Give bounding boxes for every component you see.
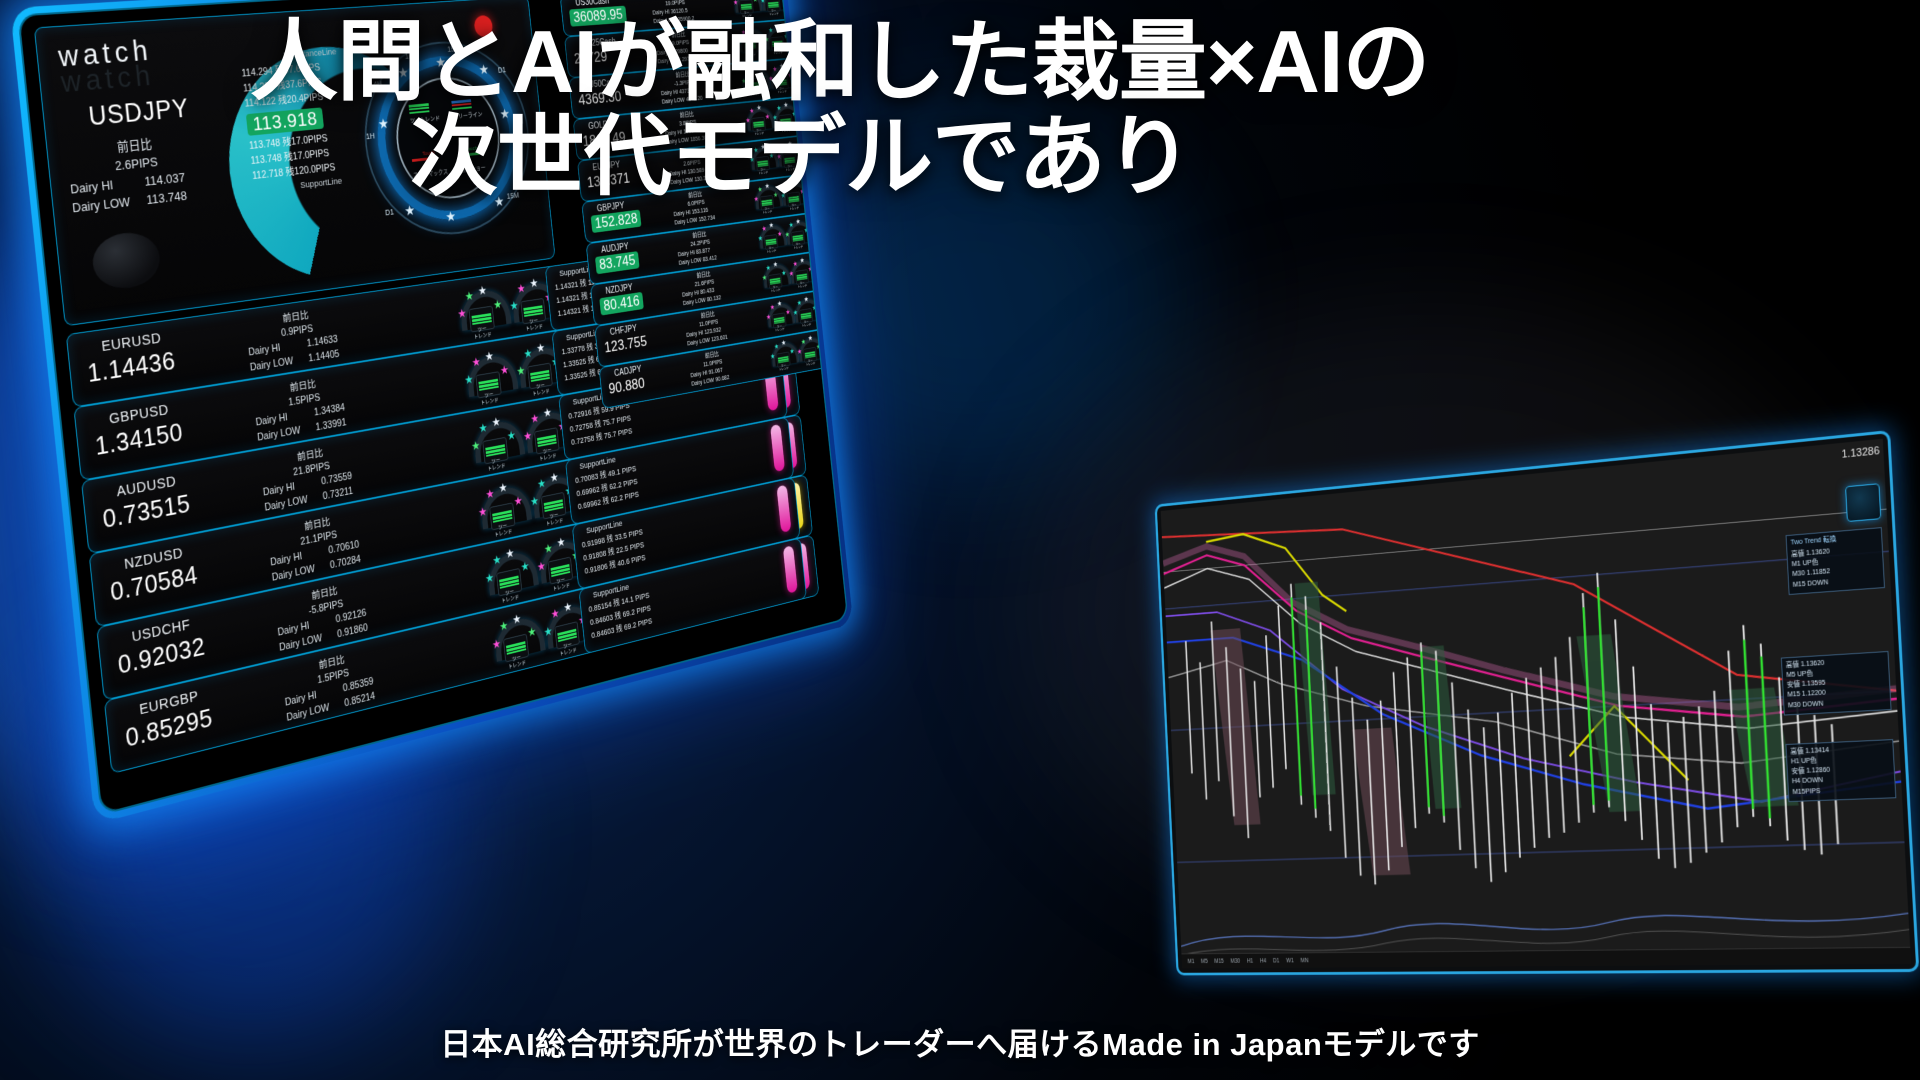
star-icon: ★ [520, 559, 530, 575]
star-icon: ★ [781, 268, 787, 277]
star-icon: ★ [543, 541, 553, 557]
star-icon: ★ [485, 486, 495, 502]
signal-badge[interactable]: ★ ★ ★ ★ ツートレンド [467, 408, 521, 474]
star-icon: ★ [493, 297, 503, 312]
star-icon: ★ [762, 273, 768, 282]
star-icon: ★ [523, 428, 533, 444]
bars-icon [768, 1, 779, 8]
star-icon: ★ [492, 552, 502, 568]
star-icon: ★ [801, 337, 807, 346]
star-icon: ★ [768, 221, 774, 230]
star-icon: ★ [760, 0, 766, 5]
bars-icon [550, 563, 570, 578]
row-stats: 前日比 21.6PIPS Dairy HI 80.433 Dairy LOW 8… [680, 268, 730, 309]
gauge-tf-label: D1 [385, 207, 394, 217]
star-icon: ★ [785, 230, 791, 239]
star-icon: ★ [795, 217, 801, 226]
bars-icon [492, 509, 512, 524]
star-icon: ★ [785, 307, 791, 316]
star-icon: ★ [793, 308, 799, 317]
star-icon: ★ [523, 346, 533, 361]
star-icon: ★ [797, 298, 803, 307]
bars-icon [523, 304, 543, 317]
bars-icon [530, 369, 550, 383]
row-badges: ★ ★ ★ ★ ツートレンド ★ ★ ★ ★ ツートレンド [768, 330, 824, 373]
star-icon: ★ [527, 624, 537, 640]
star-icon: ★ [543, 624, 553, 640]
timeframe-button[interactable]: D1 [1273, 958, 1280, 964]
star-icon: ★ [550, 606, 560, 622]
star-icon: ★ [792, 259, 798, 268]
star-icon: ★ [516, 281, 526, 296]
star-icon: ★ [556, 535, 566, 551]
star-icon: ★ [530, 411, 540, 427]
timeframe-button[interactable]: M30 [1230, 958, 1240, 964]
star-icon: ★ [512, 611, 522, 627]
star-icon: ★ [506, 428, 516, 444]
star-icon: ★ [797, 347, 803, 356]
star-icon: ★ [779, 0, 785, 2]
bars-icon [805, 351, 816, 359]
signal-badge[interactable]: ★ ★ ★ ★ ツートレンド [755, 218, 784, 255]
timeframe-button[interactable]: H4 [1260, 958, 1267, 964]
bars-icon [792, 234, 803, 242]
bars-icon [499, 575, 519, 590]
star-icon: ★ [498, 480, 508, 496]
signal-badge[interactable]: ★ ★ ★ ★ ツートレンド [487, 604, 540, 672]
star-icon: ★ [513, 493, 523, 509]
star-icon: ★ [543, 405, 553, 421]
star-icon: ★ [471, 438, 481, 454]
bars-icon [770, 277, 781, 285]
star-icon: ★ [516, 363, 526, 379]
star-icon: ★ [777, 299, 783, 308]
bars-icon [774, 316, 785, 324]
hero-stats: 前日比 2.6PIPS Dairy HI114.037 Dairy LOW113… [66, 131, 207, 218]
strength-pill [770, 424, 785, 472]
star-icon: ★ [505, 546, 515, 562]
star-icon: ★ [788, 220, 794, 229]
star-icon: ★ [478, 504, 488, 520]
bars-icon [557, 628, 577, 643]
timeframe-button[interactable]: M1 [1188, 958, 1195, 964]
hero-low-value: 113.748 [146, 187, 188, 210]
chart-canvas[interactable]: 1.13286 Two Trend 転換 高値 1.13620 M1 UP色 M… [1161, 439, 1911, 969]
signal-badge[interactable]: ★ ★ ★ ★ ツートレンド [474, 474, 528, 541]
row-stats: 前日比 1.5PIPS Dairy HI0.85359 Dairy LOW0.8… [281, 645, 385, 726]
star-icon: ★ [478, 420, 488, 436]
star-icon: ★ [766, 313, 772, 322]
signal-badge[interactable]: ★ ★ ★ ★ ツートレンド [768, 335, 797, 373]
signal-badge[interactable]: ★ ★ ★ ★ ツートレンド [759, 257, 788, 294]
timeframe-button[interactable]: W1 [1286, 957, 1294, 963]
bars-icon [478, 378, 499, 392]
chart-bezel: 1.13286 Two Trend 転換 高値 1.13620 M1 UP色 M… [1155, 430, 1920, 975]
row-stats: 前日比 0.9PIPS Dairy HI1.14633 Dairy LOW1.1… [245, 304, 350, 376]
star-icon: ★ [773, 260, 779, 269]
star-icon: ★ [812, 303, 817, 312]
star-icon: ★ [733, 0, 739, 7]
bars-icon [778, 356, 789, 364]
brand-logo-reflection: watch [59, 60, 156, 100]
star-icon: ★ [761, 224, 767, 233]
star-icon: ★ [536, 559, 546, 575]
star-icon: ★ [789, 269, 795, 278]
footer-tagline: 日本AI総合研究所が世界のトレーダーへ届けるMade in Japanモデルです [0, 1019, 1920, 1064]
row-badges: ★ ★ ★ ★ ツートレンド ★ ★ ★ ★ ツートレンド [764, 292, 820, 334]
bars-icon [544, 498, 564, 512]
star-icon: ★ [530, 494, 540, 510]
row-badges: ★ ★ ★ ★ ツートレンド ★ ★ ★ ★ ツートレンド [453, 270, 558, 341]
star-icon: ★ [500, 363, 510, 379]
timeframe-button[interactable]: M15 [1214, 958, 1224, 964]
signal-badge[interactable]: ★ ★ ★ ★ ツートレンド [791, 292, 820, 329]
star-icon: ★ [484, 349, 494, 365]
star-icon: ★ [789, 347, 795, 356]
star-icon: ★ [766, 263, 772, 272]
star-icon: ★ [816, 342, 821, 351]
star-icon: ★ [491, 636, 501, 652]
star-icon: ★ [499, 618, 509, 634]
star-icon: ★ [477, 283, 487, 298]
star-icon: ★ [808, 264, 813, 273]
star-icon: ★ [464, 289, 474, 305]
mt4-chart-screen: 1.13286 Two Trend 転換 高値 1.13620 M1 UP色 M… [1155, 430, 1920, 975]
bars-icon [765, 238, 776, 246]
star-icon: ★ [770, 303, 776, 312]
star-icon: ★ [491, 414, 501, 430]
chart-info-box-1: Two Trend 転換 高値 1.13620 M1 UP色 M30 1.118… [1786, 527, 1885, 595]
two-trend-badge-icon [1845, 483, 1881, 522]
star-icon: ★ [752, 0, 758, 4]
signal-badge[interactable]: ★ ★ ★ ★ ツートレンド [764, 296, 793, 334]
bars-icon [471, 312, 492, 326]
row-price: 0.73515 [101, 488, 191, 535]
bars-icon [485, 443, 505, 457]
bars-icon [796, 273, 807, 281]
star-icon: ★ [770, 352, 776, 361]
headline-line-2: 次世代モデルであり [410, 109, 1910, 204]
signal-badge[interactable]: ★ ★ ★ ★ ツートレンド [782, 214, 811, 251]
star-icon: ★ [529, 276, 539, 291]
star-icon: ★ [774, 342, 780, 351]
hero-symbol: USDJPY [87, 94, 190, 133]
timeframe-button[interactable]: H1 [1247, 958, 1254, 964]
row-stats: 前日比 11.0PIPS Dairy HI 91.067 Dairy LOW 9… [688, 348, 737, 390]
star-icon: ★ [536, 341, 546, 356]
row-price: 1.14436 [86, 345, 177, 388]
star-icon: ★ [777, 229, 783, 238]
promo-banner: watch watch USDJPY 前日比 2.6PIPS Dairy HI1… [0, 0, 1920, 1080]
star-icon: ★ [471, 355, 481, 371]
chart-info-box-3: 高値 1.13414 H1 UP色 安値 1.12860 H4 DOWN M15… [1785, 739, 1896, 802]
headline: 人間とAIが融和した裁量×AIの 次世代モデルであり [250, 14, 1910, 204]
star-icon: ★ [464, 372, 474, 388]
strength-pill [776, 485, 791, 533]
star-icon: ★ [509, 298, 519, 313]
signal-badge[interactable]: ★ ★ ★ ★ ツートレンド [460, 343, 514, 408]
signal-badge[interactable]: ★ ★ ★ ★ ツートレンド [481, 539, 534, 607]
star-icon: ★ [444, 210, 457, 225]
star-icon: ★ [457, 306, 467, 322]
signal-badge[interactable]: ★ ★ ★ ★ ツートレンド [786, 253, 815, 290]
star-icon: ★ [781, 338, 787, 347]
star-icon: ★ [804, 226, 809, 235]
star-icon: ★ [808, 334, 813, 343]
signal-badge[interactable]: ★ ★ ★ ★ ツートレンド [795, 330, 824, 368]
knob-icon[interactable] [90, 229, 162, 292]
row-stats: 前日比 24.2PIPS Dairy HI 83.877 Dairy LOW 8… [676, 228, 726, 268]
signal-badge[interactable]: ★ ★ ★ ★ ツートレンド [453, 277, 507, 341]
chart-info-box-2: 高値 1.13620 M5 UP色 安値 1.13595 M15 1.12200… [1781, 651, 1892, 715]
timeframe-button[interactable]: M5 [1201, 958, 1208, 964]
headline-line-1: 人間とAIが融和した裁量×AIの [250, 12, 1429, 111]
strength-pill [783, 545, 798, 593]
bars-icon [801, 312, 812, 320]
star-icon: ★ [799, 256, 804, 265]
star-icon: ★ [757, 234, 763, 243]
brand-logo: watch watch [57, 35, 156, 100]
row-stats: 前日比 11.0PIPS Dairy HI 123.932 Dairy LOW … [684, 308, 734, 349]
bars-icon [537, 434, 557, 448]
star-icon: ★ [485, 570, 495, 586]
timeframe-button[interactable]: MN [1301, 957, 1309, 963]
star-icon: ★ [804, 295, 809, 304]
row-price: 1.34150 [94, 417, 185, 462]
row-badges: ★ ★ ★ ★ ツートレンド ★ ★ ★ ★ ツートレンド [759, 253, 815, 294]
star-icon: ★ [537, 476, 547, 492]
star-icon: ★ [563, 599, 573, 615]
star-icon: ★ [549, 470, 559, 486]
row-price: 90.880 [608, 375, 646, 399]
bars-icon [741, 3, 752, 10]
row-badges: ★ ★ ★ ★ ツートレンド ★ ★ ★ ★ ツートレンド [755, 214, 811, 255]
